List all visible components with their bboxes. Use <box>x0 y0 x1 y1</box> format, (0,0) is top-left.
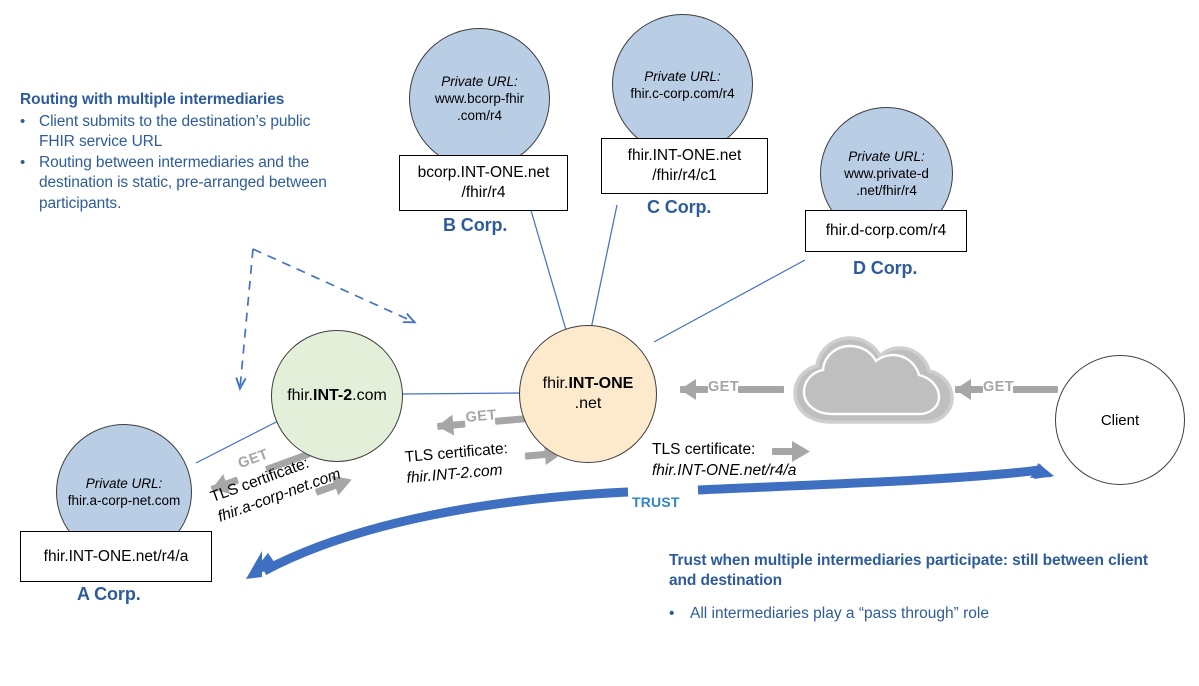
list-item: • Client submits to the destination’s pu… <box>20 112 332 152</box>
a-corp-private-url: fhir.a-corp-net.com <box>68 492 181 509</box>
d-corp-endpoint-box: fhir.d-corp.com/r4 <box>805 210 967 252</box>
trust-bullet-1: All intermediaries play a “pass through”… <box>690 604 989 624</box>
c-corp-private-circle: Private URL: fhir.c-corp.com/r4 <box>612 14 753 155</box>
get-label-int-one-int-two: GET <box>465 407 497 426</box>
a-corp-label: A Corp. <box>77 584 141 605</box>
d-corp-endpoint-line1: fhir.d-corp.com/r4 <box>826 221 947 241</box>
link-int-one-to-b-corp <box>530 207 566 330</box>
b-corp-private-url-line1: www.bcorp-fhir <box>435 90 524 107</box>
get-label-cloud-int-one: GET <box>708 379 739 395</box>
c-corp-endpoint-box: fhir.INT-ONE.net /fhir/r4/c1 <box>601 138 768 194</box>
b-corp-private-circle: Private URL: www.bcorp-fhir .com/r4 <box>409 28 550 169</box>
trust-note-block: Trust when multiple intermediaries parti… <box>669 551 1149 624</box>
list-item: • Routing between intermediaries and the… <box>20 153 332 213</box>
int-one-suffix: .net <box>543 394 634 414</box>
int-one-prefix: fhir. <box>543 375 569 392</box>
link-int-one-to-d-corp <box>654 260 805 342</box>
c-corp-private-url: fhir.c-corp.com/r4 <box>630 85 734 102</box>
tls-cert-int-one-line2: fhir.INT-ONE.net/r4/a <box>652 462 796 479</box>
routing-bullet-2: Routing between intermediaries and the d… <box>39 153 332 213</box>
b-corp-label: B Corp. <box>443 215 507 236</box>
b-corp-endpoint-line2: /fhir/r4 <box>418 183 550 203</box>
routing-bullet-1: Client submits to the destination’s publ… <box>39 112 332 152</box>
int-two-suffix: .com <box>352 387 387 404</box>
diagram-canvas: Routing with multiple intermediaries • C… <box>0 0 1199 686</box>
b-corp-private-url-line2: .com/r4 <box>435 107 524 124</box>
int-two-prefix: fhir. <box>287 387 313 404</box>
trust-note-headline: Trust when multiple intermediaries parti… <box>669 551 1149 591</box>
link-int-one-to-int-two <box>402 393 520 394</box>
b-corp-endpoint-line1: bcorp.INT-ONE.net <box>418 163 550 183</box>
trust-label: TRUST <box>632 494 680 510</box>
a-corp-endpoint-line1: fhir.INT-ONE.net/r4/a <box>44 547 189 567</box>
int-one-node: fhir.INT-ONE .net <box>519 325 657 463</box>
d-corp-private-url-line2: .net/fhir/r4 <box>844 182 929 199</box>
bullet-glyph-icon: • <box>20 153 39 173</box>
routing-note-bullets: • Client submits to the destination’s pu… <box>20 112 332 215</box>
int-one-name: INT-ONE <box>568 375 633 392</box>
b-corp-private-label: Private URL: <box>435 73 524 90</box>
int-two-name: INT-2 <box>313 387 352 404</box>
c-corp-private-label: Private URL: <box>630 68 734 85</box>
get-label-client-cloud: GET <box>983 379 1014 395</box>
bullet-glyph-icon: • <box>669 604 690 624</box>
network-cloud-icon <box>795 338 952 422</box>
a-corp-endpoint-box: fhir.INT-ONE.net/r4/a <box>20 531 212 582</box>
c-corp-label: C Corp. <box>647 197 711 218</box>
c-corp-endpoint-line2: /fhir/r4/c1 <box>628 166 742 186</box>
a-corp-private-label: Private URL: <box>68 475 181 492</box>
c-corp-endpoint-line1: fhir.INT-ONE.net <box>628 146 742 166</box>
client-label: Client <box>1095 412 1145 429</box>
list-item: • All intermediaries play a “pass throug… <box>669 604 1149 624</box>
link-int-one-to-c-corp <box>591 205 617 329</box>
d-corp-private-label: Private URL: <box>844 148 929 165</box>
d-corp-label: D Corp. <box>853 258 917 279</box>
bullet-glyph-icon: • <box>20 112 39 132</box>
tls-cert-int-one-line1: TLS certificate: <box>652 440 796 461</box>
b-corp-endpoint-box: bcorp.INT-ONE.net /fhir/r4 <box>399 155 568 211</box>
int-two-node: fhir.INT-2.com <box>271 330 403 462</box>
routing-note-headline: Routing with multiple intermediaries <box>20 90 330 110</box>
tls-cert-int-one: TLS certificate: fhir.INT-ONE.net/r4/a <box>652 440 796 482</box>
d-corp-private-url-line1: www.private-d <box>844 165 929 182</box>
client-node: Client <box>1055 355 1185 485</box>
